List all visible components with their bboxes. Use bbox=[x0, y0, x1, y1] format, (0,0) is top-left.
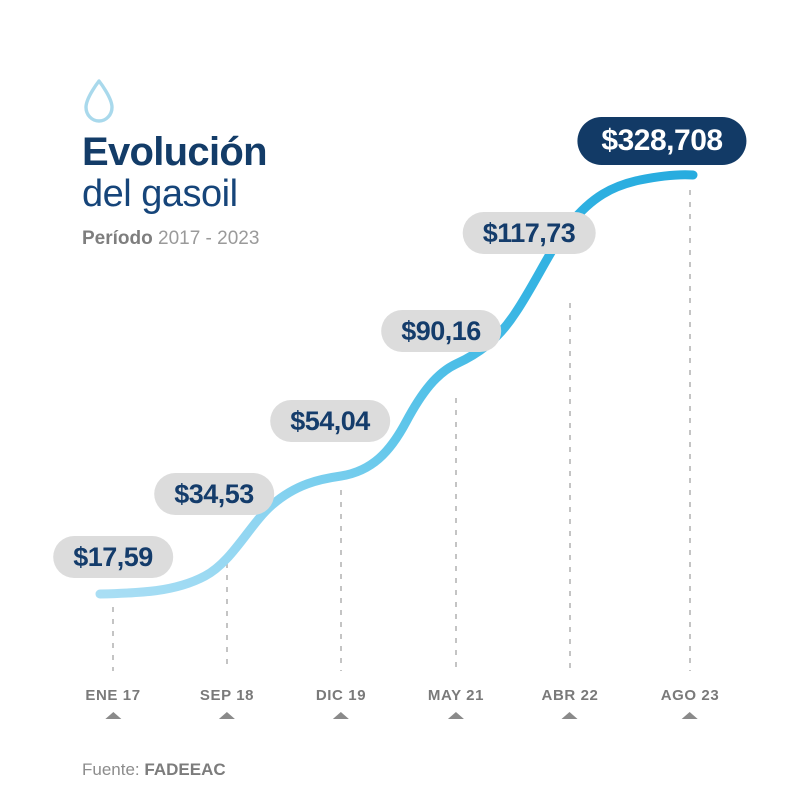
subtitle-label: Período bbox=[82, 228, 153, 249]
grid-dashed-lines bbox=[113, 190, 690, 671]
x-axis-tick-abr-22: ABR 22 bbox=[542, 687, 599, 719]
x-axis-tick-ago-23: AGO 23 bbox=[661, 687, 720, 719]
title-line-2: del gasoil bbox=[82, 173, 482, 216]
value-pill-dic-19: $54,04 bbox=[270, 400, 390, 442]
infographic-root: Evolución del gasoil Período 2017 - 2023 bbox=[0, 0, 800, 800]
caret-up-icon bbox=[333, 712, 349, 719]
x-axis-tick-may-21: MAY 21 bbox=[428, 687, 484, 719]
value-pill-sep-18: $34,53 bbox=[154, 473, 274, 515]
subtitle-range: 2017 - 2023 bbox=[158, 228, 259, 249]
x-axis-label-ene-17: ENE 17 bbox=[85, 687, 140, 704]
value-pill-ago-23: $328,708 bbox=[577, 117, 746, 165]
x-axis-label-sep-18: SEP 18 bbox=[200, 687, 254, 704]
caret-up-icon bbox=[105, 712, 121, 719]
water-drop-icon bbox=[82, 78, 116, 124]
source-credit: Fuente: FADEEAC bbox=[82, 760, 226, 780]
x-axis-label-dic-19: DIC 19 bbox=[316, 687, 366, 704]
subtitle-period: Período 2017 - 2023 bbox=[82, 228, 259, 250]
caret-up-icon bbox=[448, 712, 464, 719]
x-axis-label-ago-23: AGO 23 bbox=[661, 687, 720, 704]
page-title: Evolución del gasoil bbox=[82, 132, 482, 215]
title-line-1: Evolución bbox=[82, 132, 482, 173]
caret-up-icon bbox=[219, 712, 235, 719]
value-pill-ene-17: $17,59 bbox=[53, 536, 173, 578]
caret-up-icon bbox=[682, 712, 698, 719]
x-axis-label-abr-22: ABR 22 bbox=[542, 687, 599, 704]
value-pill-may-21: $90,16 bbox=[381, 310, 501, 352]
value-pill-abr-22: $117,73 bbox=[463, 212, 596, 254]
x-axis-tick-dic-19: DIC 19 bbox=[316, 687, 366, 719]
x-axis-tick-ene-17: ENE 17 bbox=[85, 687, 140, 719]
caret-up-icon bbox=[562, 712, 578, 719]
x-axis-label-may-21: MAY 21 bbox=[428, 687, 484, 704]
x-axis-tick-sep-18: SEP 18 bbox=[200, 687, 254, 719]
source-label: Fuente: bbox=[82, 760, 140, 779]
source-value: FADEEAC bbox=[144, 760, 225, 779]
